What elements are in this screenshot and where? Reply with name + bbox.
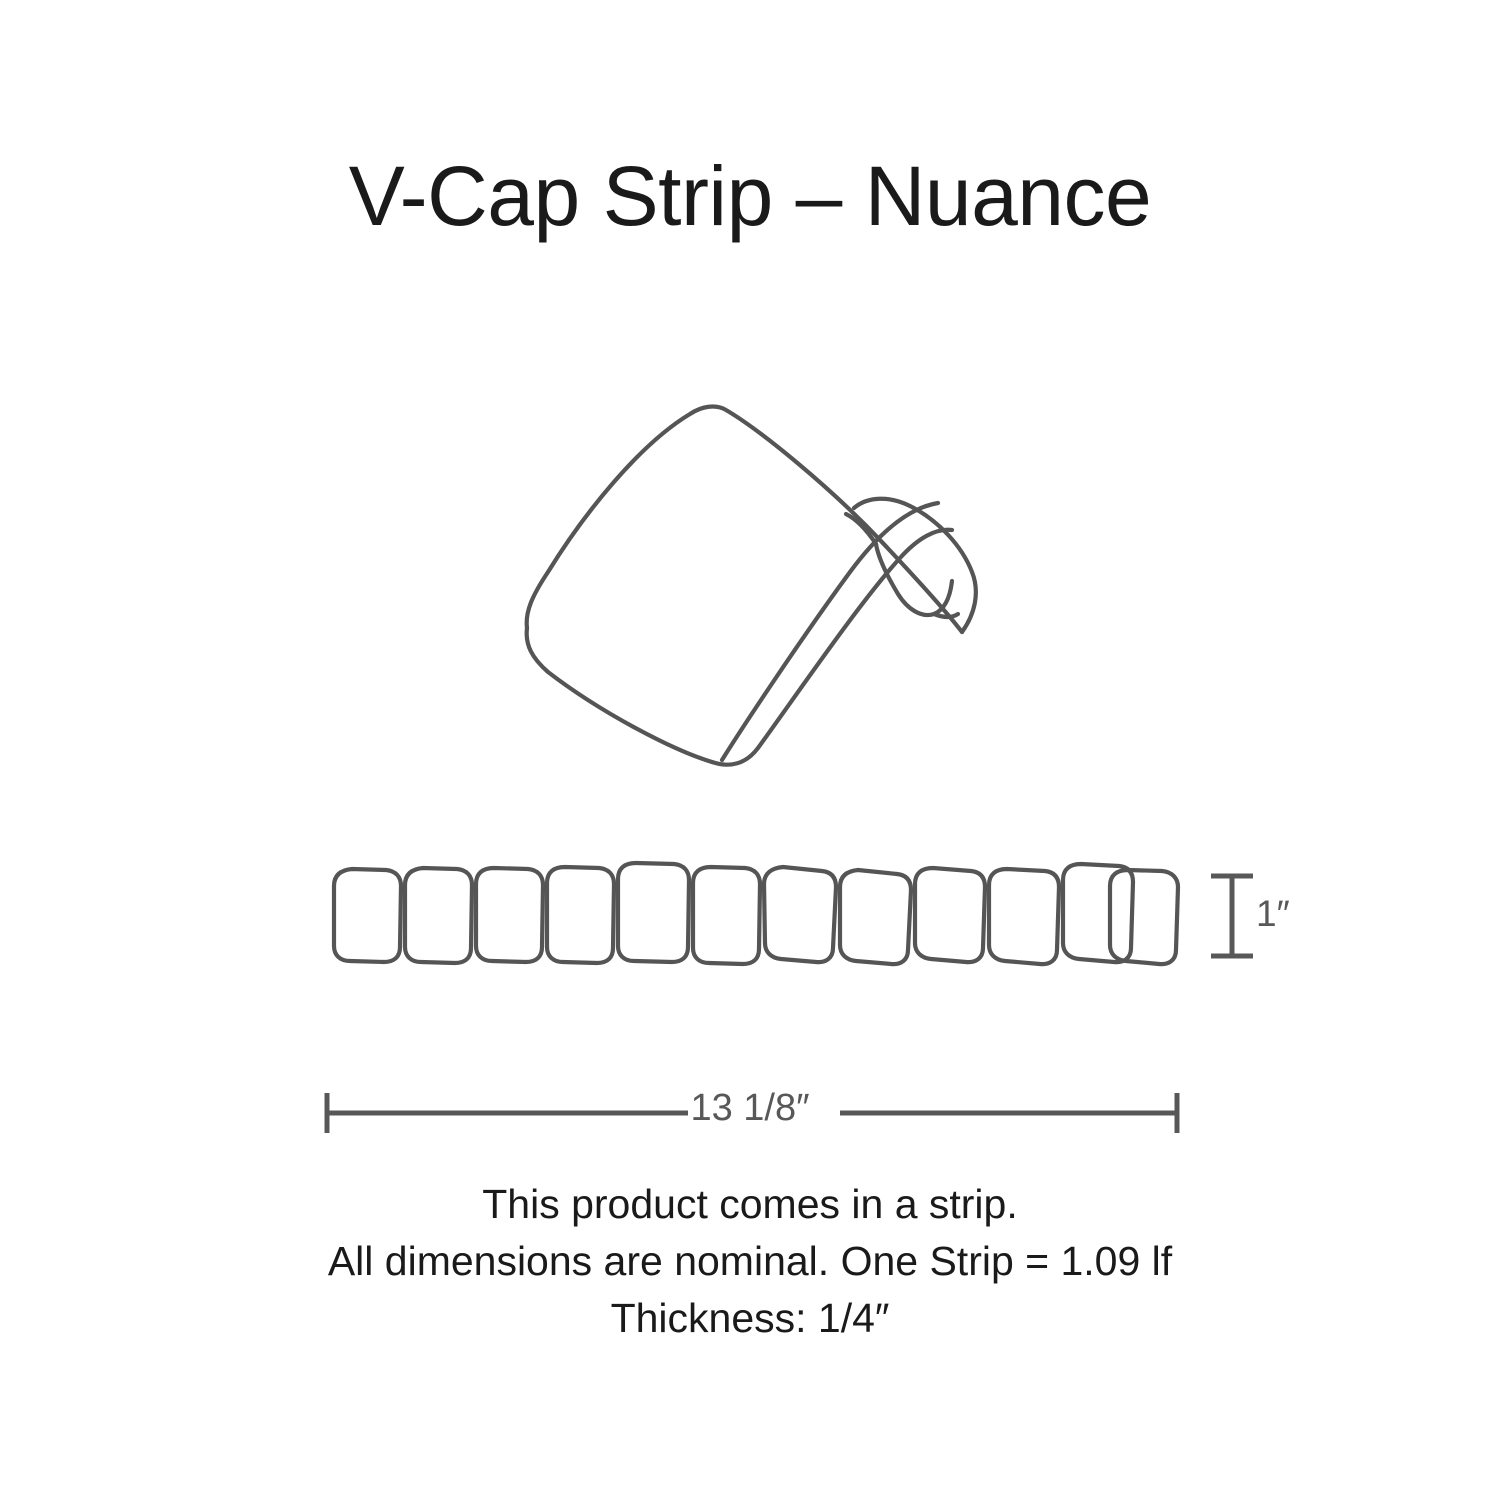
tile-top-surface-outline: [527, 407, 962, 632]
page-title: V-Cap Strip – Nuance: [0, 152, 1500, 240]
tile-hook-join: [934, 614, 958, 617]
strip-tile: [618, 863, 689, 962]
tile-front-bottom-edge: [712, 530, 952, 765]
strip-tile: [840, 870, 911, 964]
product-spec-sheet: V-Cap Strip – Nuance: [0, 0, 1500, 1500]
tile-hook-tip: [846, 514, 876, 544]
tile-left-end-face: [527, 628, 712, 762]
caption-line-nominal: All dimensions are nominal. One Strip = …: [0, 1233, 1500, 1290]
height-dimension-line: [1211, 876, 1253, 956]
strip-tile: [764, 867, 836, 962]
caption-line-strip: This product comes in a strip.: [0, 1176, 1500, 1233]
height-dimension-label: 1″: [1256, 893, 1290, 935]
title-block: V-Cap Strip – Nuance: [0, 152, 1500, 240]
strip-tile: [476, 868, 543, 962]
strip-tile: [1110, 870, 1178, 964]
strip-tile: [547, 867, 614, 963]
width-dimension-label: 13 1/8″: [0, 1087, 1500, 1130]
caption-block: This product comes in a strip. All dimen…: [0, 1176, 1500, 1347]
tile-hook-inner-curve: [876, 544, 952, 615]
strip-tile: [989, 869, 1059, 964]
strip-tile: [405, 868, 472, 963]
strip-tile: [1063, 864, 1133, 962]
strip-tile: [334, 869, 401, 962]
strip-tile: [915, 868, 985, 962]
tile-front-inner-crease: [722, 503, 938, 760]
caption-line-thickness: Thickness: 1/4″: [0, 1290, 1500, 1347]
tile-strip-elevation: [334, 863, 1178, 964]
tile-hook-outer-curve: [854, 499, 976, 632]
strip-tile: [693, 867, 760, 964]
v-cap-3d-perspective: [527, 407, 976, 765]
